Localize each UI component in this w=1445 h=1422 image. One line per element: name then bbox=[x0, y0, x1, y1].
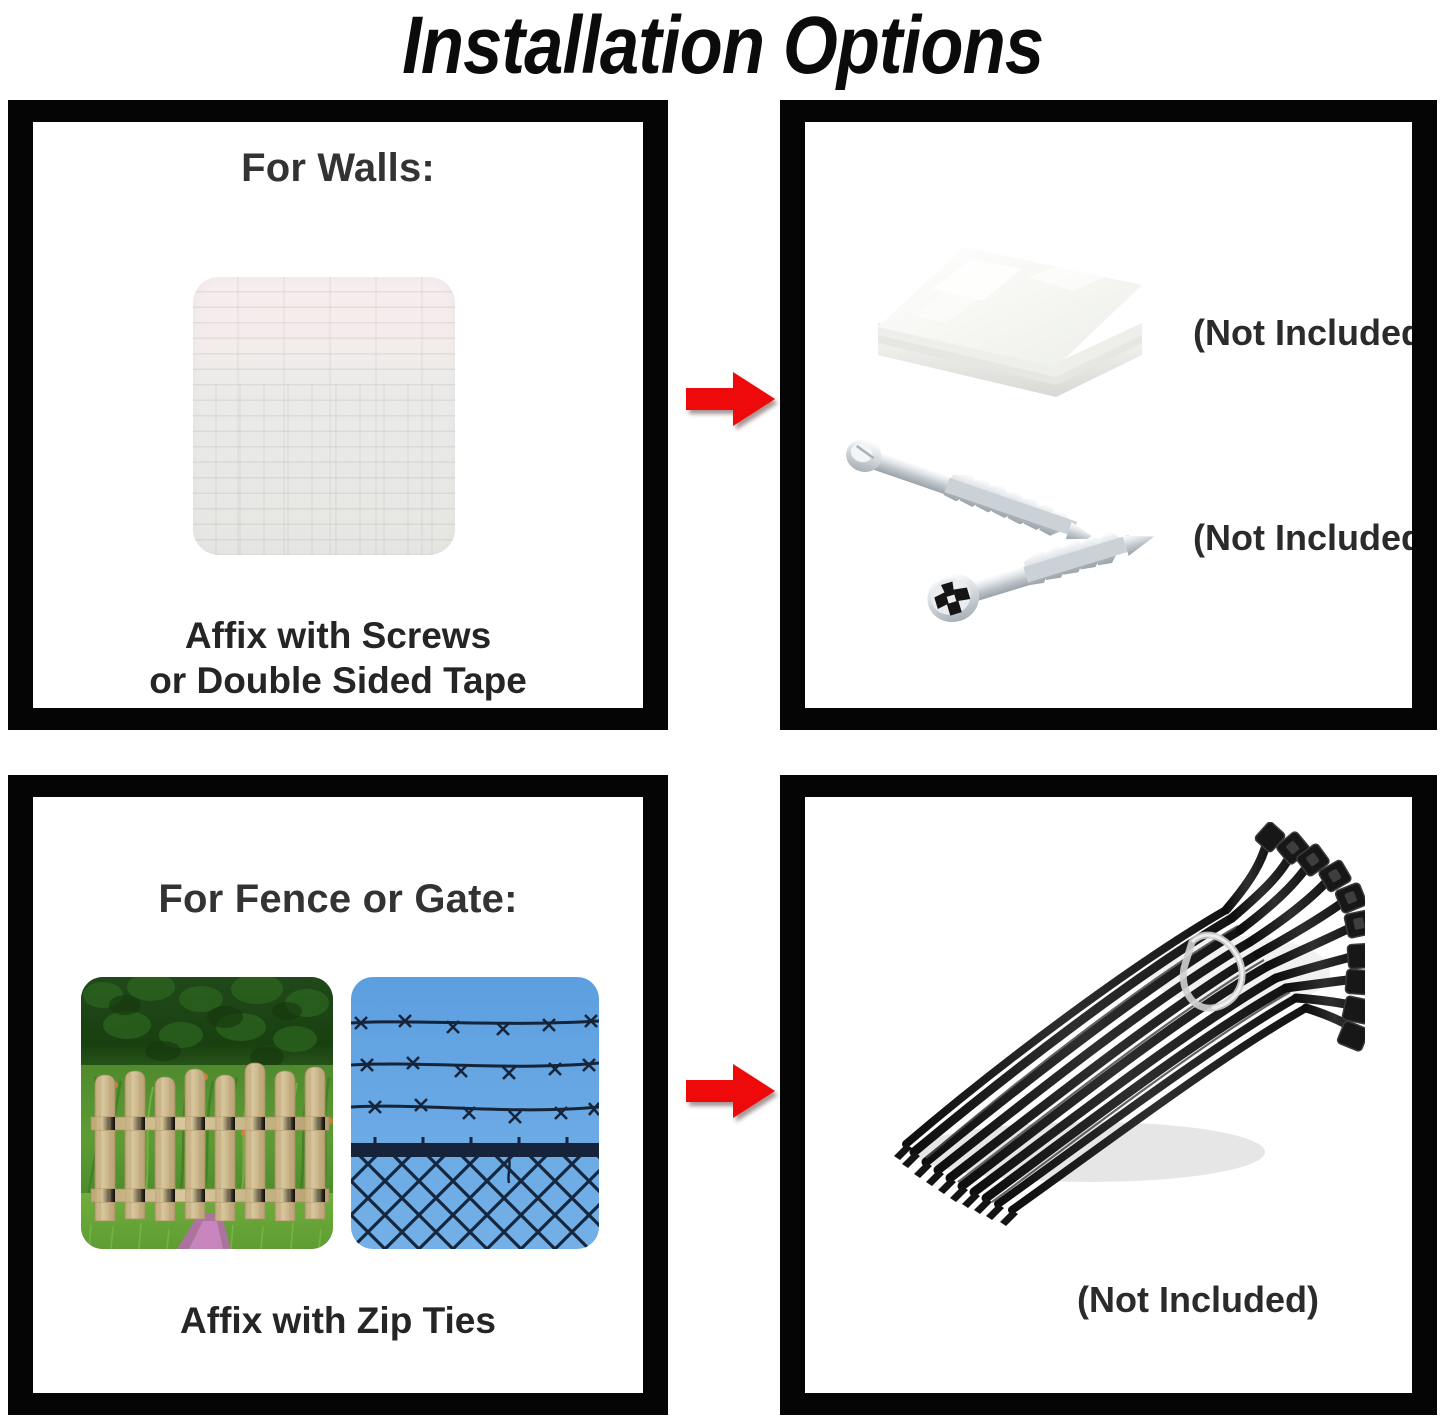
panel-zip-ties: (Not Included) bbox=[780, 775, 1437, 1415]
for-walls-caption-line1: Affix with Screws bbox=[33, 612, 643, 659]
arrow-fence-to-zipties-icon bbox=[686, 1060, 776, 1122]
chain-link-barbed-wire-fence-photo bbox=[351, 977, 599, 1249]
panel-for-fence-or-gate: For Fence or Gate: bbox=[8, 775, 668, 1415]
panel-for-walls: For Walls: Affix with Screws or Double S… bbox=[8, 100, 668, 730]
double-sided-tape-stack-image bbox=[860, 227, 1150, 417]
page-title: Installation Options bbox=[402, 5, 1043, 87]
zip-tie-bundle-image bbox=[840, 822, 1365, 1242]
for-fence-caption: Affix with Zip Ties bbox=[33, 1297, 643, 1344]
panel-for-walls-content: For Walls: Affix with Screws or Double S… bbox=[33, 122, 643, 708]
panel-zip-ties-content: (Not Included) bbox=[805, 797, 1412, 1393]
arrow-walls-to-hardware-icon bbox=[686, 368, 776, 430]
white-brick-wall-image bbox=[193, 277, 455, 555]
panel-for-fence-or-gate-content: For Fence or Gate: bbox=[33, 797, 643, 1393]
for-walls-caption-line2: or Double Sided Tape bbox=[33, 657, 643, 704]
title-bar: Installation Options bbox=[0, 0, 1445, 92]
tape-not-included-label: (Not Included) bbox=[1193, 312, 1412, 354]
wood-screws-image bbox=[833, 432, 1163, 662]
wooden-picket-fence-photo bbox=[81, 977, 333, 1249]
zipties-not-included-label: (Not Included) bbox=[1077, 1279, 1319, 1321]
panel-wall-hardware: (Not Included) bbox=[780, 100, 1437, 730]
for-fence-heading: For Fence or Gate: bbox=[33, 877, 643, 922]
for-walls-heading: For Walls: bbox=[33, 146, 643, 191]
panel-wall-hardware-content: (Not Included) bbox=[805, 122, 1412, 708]
screws-not-included-label: (Not Included) bbox=[1193, 517, 1412, 559]
